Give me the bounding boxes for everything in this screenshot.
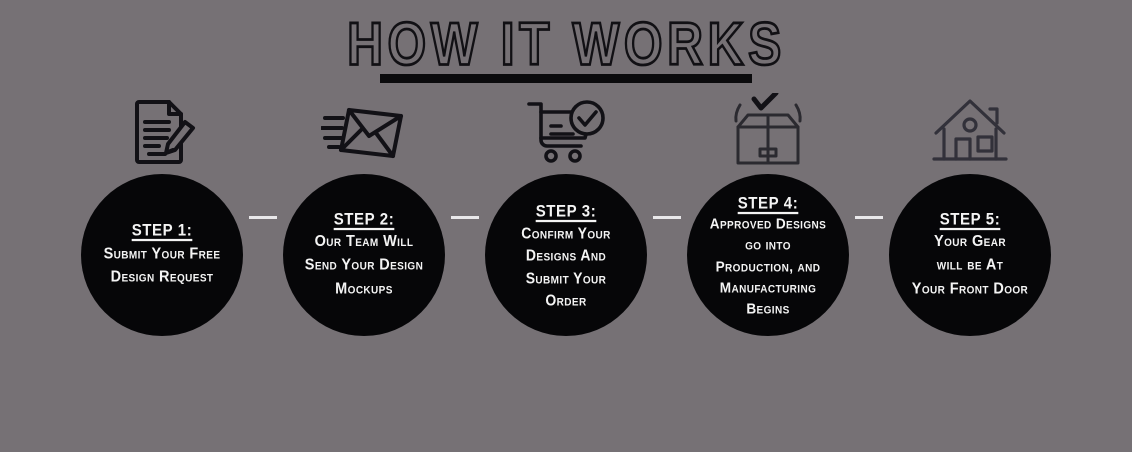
step-text-line: Send Your Design [272, 255, 457, 279]
step-label: STEP 4: [738, 194, 799, 213]
step-item-3[interactable]: STEP 3: Confirm Your Designs And Submit … [480, 92, 652, 336]
open-box-check-icon [726, 92, 810, 170]
step-item-2[interactable]: STEP 2: Our Team Will Send Your Design M… [278, 92, 450, 336]
step-item-5[interactable]: STEP 5: Your Gear will be At Your Front … [884, 92, 1056, 336]
step-text-line: Your Gear [878, 231, 1063, 255]
step-label: STEP 5: [940, 210, 1001, 229]
house-icon [930, 92, 1010, 170]
step-text-line: Design Request [70, 267, 255, 291]
cart-check-icon [525, 92, 607, 170]
document-pencil-icon [125, 92, 199, 170]
step-text: Approved Designs go into Production, and… [673, 213, 863, 319]
step-text-line: Begins [673, 298, 863, 319]
step-label: STEP 1: [132, 221, 193, 240]
step-text-line: Production, and [673, 256, 863, 277]
step-text: Confirm Your Designs And Submit Your Ord… [474, 222, 659, 311]
step-circle-3[interactable]: STEP 3: Confirm Your Designs And Submit … [485, 174, 647, 336]
step-text-line: Confirm Your [474, 222, 659, 244]
step-text: Our Team Will Send Your Design Mockups [272, 231, 457, 302]
steps-row: STEP 1: Submit Your Free Design Request [0, 92, 1132, 382]
step-text-line: will be At [878, 255, 1063, 279]
connector-dash [249, 216, 277, 219]
step-circle-1[interactable]: STEP 1: Submit Your Free Design Request [81, 174, 243, 336]
connector-1-2 [248, 92, 278, 342]
step-text-line: Approved Designs [673, 213, 863, 234]
flying-envelope-icon [321, 92, 407, 170]
step-item-1[interactable]: STEP 1: Submit Your Free Design Request [76, 92, 248, 336]
step-text-line: Order [474, 289, 659, 311]
step-text: Submit Your Free Design Request [70, 243, 255, 290]
step-text-line: Manufacturing [673, 277, 863, 298]
step-text-line: Designs And [474, 244, 659, 266]
step-circle-2[interactable]: STEP 2: Our Team Will Send Your Design M… [283, 174, 445, 336]
page-header: HOW IT WORKS [0, 14, 1132, 83]
step-text-line: Your Front Door [878, 278, 1063, 302]
step-circle-4[interactable]: STEP 4: Approved Designs go into Product… [687, 174, 849, 336]
page-title: HOW IT WORKS [341, 14, 791, 74]
step-text: Your Gear will be At Your Front Door [878, 231, 1063, 302]
step-circle-5[interactable]: STEP 5: Your Gear will be At Your Front … [889, 174, 1051, 336]
step-text-line: go into [673, 235, 863, 256]
step-label: STEP 3: [536, 202, 597, 221]
step-text-line: Mockups [272, 278, 457, 302]
connector-dash [451, 216, 479, 219]
step-text-line: Our Team Will [272, 231, 457, 255]
step-text-line: Submit Your Free [70, 243, 255, 267]
step-label: STEP 2: [334, 210, 395, 229]
step-text-line: Submit Your [474, 267, 659, 289]
step-item-4[interactable]: STEP 4: Approved Designs go into Product… [682, 92, 854, 336]
